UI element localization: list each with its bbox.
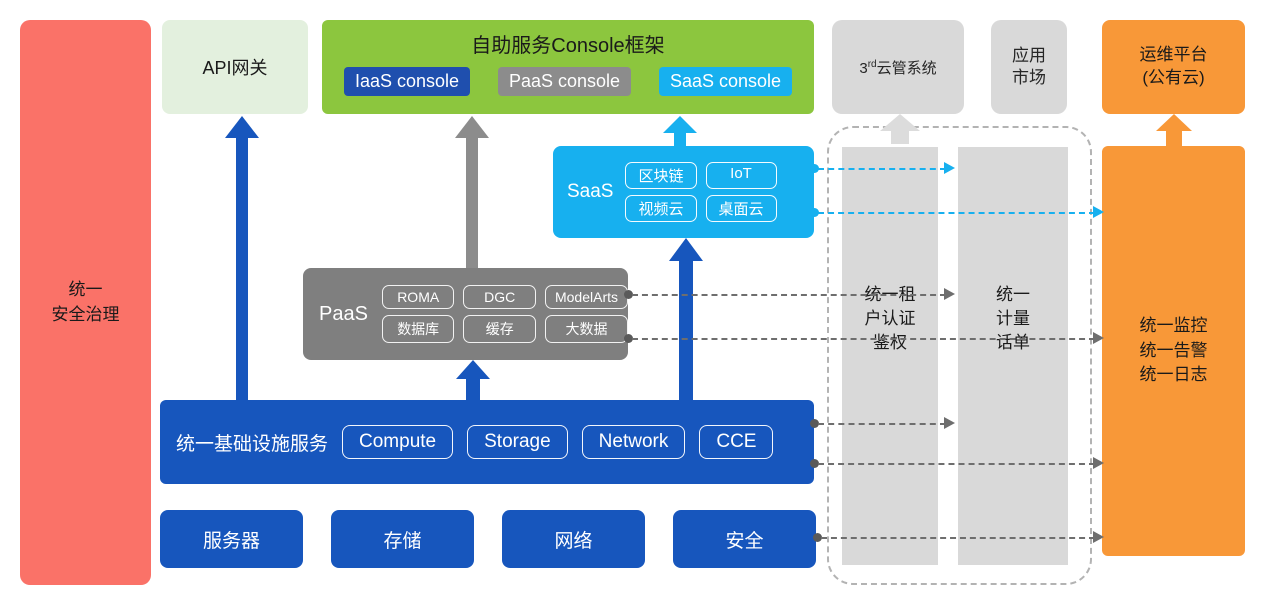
arrowhead-infra-to-ops [1093, 457, 1104, 469]
arrowhead-saas-to-auth [944, 162, 955, 174]
resource-box-network: 网络 [502, 510, 645, 568]
resource-label-network: 网络 [554, 526, 592, 553]
arrow-infra-to-api-gateway [225, 116, 259, 400]
connector-infra-to-auth [818, 423, 946, 425]
paas-service-modelarts[interactable]: ModelArts [545, 285, 628, 309]
api-gateway-box: API网关 [162, 20, 308, 114]
metering-line1: 统一 [958, 283, 1068, 307]
ops-body-line2: 统一告警 [1140, 339, 1208, 364]
arrowhead-paas-to-auth [944, 288, 955, 300]
arrow-infra-to-saas [669, 238, 703, 400]
infra-service-network[interactable]: Network [582, 425, 686, 459]
saas-service-blockchain[interactable]: 区块链 [625, 162, 696, 189]
resource-box-security: 安全 [673, 510, 816, 568]
arrowhead-saas-to-ops [1093, 206, 1104, 218]
connector-security-to-ops [821, 537, 1095, 539]
arrow-to-third-cloud [880, 114, 920, 144]
saas-layer-label: SaaS [567, 181, 613, 203]
paas-service-database[interactable]: 数据库 [382, 315, 455, 343]
connector-saas-to-auth [818, 168, 946, 170]
ops-platform-line1: 运维平台 [1140, 44, 1208, 67]
arrowhead-paas-to-ops [1093, 332, 1104, 344]
app-market-box: 应用 市场 [991, 20, 1067, 114]
resource-label-security: 安全 [725, 526, 763, 553]
arrowhead-security-to-ops [1093, 531, 1104, 543]
saas-service-video-cloud[interactable]: 视频云 [625, 195, 696, 222]
console-framework-box: 自助服务Console框架 IaaS console PaaS console … [322, 20, 814, 114]
connector-paas-to-ops [632, 338, 1095, 340]
infra-service-cce[interactable]: CCE [699, 425, 773, 459]
arrow-paas-to-console [455, 116, 489, 268]
saas-service-iot[interactable]: IoT [706, 162, 777, 189]
app-market-line2: 市场 [1012, 67, 1046, 89]
saas-service-desktop-cloud[interactable]: 桌面云 [706, 195, 777, 222]
metering-line2: 计量 [958, 307, 1068, 331]
resource-label-storage: 存储 [383, 526, 421, 553]
api-gateway-label: API网关 [202, 54, 267, 80]
paas-service-roma[interactable]: ROMA [382, 285, 455, 309]
console-chip-row: IaaS console PaaS console SaaS console [322, 67, 814, 96]
paas-layer-label: PaaS [319, 303, 368, 326]
resource-box-storage: 存储 [331, 510, 474, 568]
unified-infrastructure-bar: 统一基础设施服务 Compute Storage Network CCE [160, 400, 814, 484]
paas-service-dgc[interactable]: DGC [463, 285, 536, 309]
third-cloud-label: 3rd云管系统 [859, 57, 936, 78]
arrow-saas-to-console [663, 116, 697, 146]
saas-console-chip[interactable]: SaaS console [659, 67, 792, 96]
infra-service-storage[interactable]: Storage [467, 425, 568, 459]
security-pillar-line2: 安全治理 [52, 303, 120, 328]
saas-layer-box: SaaS 区块链 IoT 视频云 桌面云 [553, 146, 814, 238]
connector-infra-to-ops [818, 463, 1095, 465]
tenant-auth-column [842, 147, 938, 565]
arrow-to-ops-platform [1154, 114, 1194, 148]
paas-console-chip[interactable]: PaaS console [498, 67, 631, 96]
paas-layer-box: PaaS ROMA DGC ModelArts 数据库 缓存 大数据 [303, 268, 628, 360]
arrowhead-infra-to-auth [944, 417, 955, 429]
tenant-auth-line2: 户认证 [842, 307, 938, 331]
ops-platform-line2: (公有云) [1140, 67, 1208, 90]
security-governance-pillar: 统一 安全治理 [20, 20, 151, 585]
metering-label: 统一 计量 话单 [958, 283, 1068, 354]
connector-saas-to-ops [818, 212, 1095, 214]
infra-bar-label: 统一基础设施服务 [176, 429, 328, 456]
paas-service-bigdata[interactable]: 大数据 [545, 315, 628, 343]
iaas-console-chip[interactable]: IaaS console [344, 67, 470, 96]
third-party-cloud-mgmt-box: 3rd云管系统 [832, 20, 964, 114]
metering-column [958, 147, 1068, 565]
resource-label-server: 服务器 [203, 526, 260, 553]
console-framework-title: 自助服务Console框架 [471, 29, 664, 58]
connector-paas-to-auth [632, 294, 946, 296]
ops-body-line3: 统一日志 [1140, 363, 1208, 388]
paas-service-grid: ROMA DGC ModelArts 数据库 缓存 大数据 [382, 285, 628, 343]
app-market-line1: 应用 [1012, 45, 1046, 67]
security-pillar-line1: 统一 [52, 278, 120, 303]
infra-service-compute[interactable]: Compute [342, 425, 453, 459]
tenant-auth-line3: 鉴权 [842, 331, 938, 355]
architecture-diagram: 统一 安全治理 API网关 自助服务Console框架 IaaS console… [0, 0, 1265, 605]
metering-line3: 话单 [958, 331, 1068, 355]
saas-service-grid: 区块链 IoT 视频云 桌面云 [625, 162, 776, 222]
paas-service-cache[interactable]: 缓存 [463, 315, 536, 343]
resource-box-server: 服务器 [160, 510, 303, 568]
ops-platform-body: 统一监控 统一告警 统一日志 [1102, 146, 1245, 556]
ops-platform-box: 运维平台 (公有云) [1102, 20, 1245, 114]
ops-body-line1: 统一监控 [1140, 314, 1208, 339]
third-cloud-superscript: rd [868, 59, 877, 70]
arrow-infra-to-paas [456, 360, 490, 400]
